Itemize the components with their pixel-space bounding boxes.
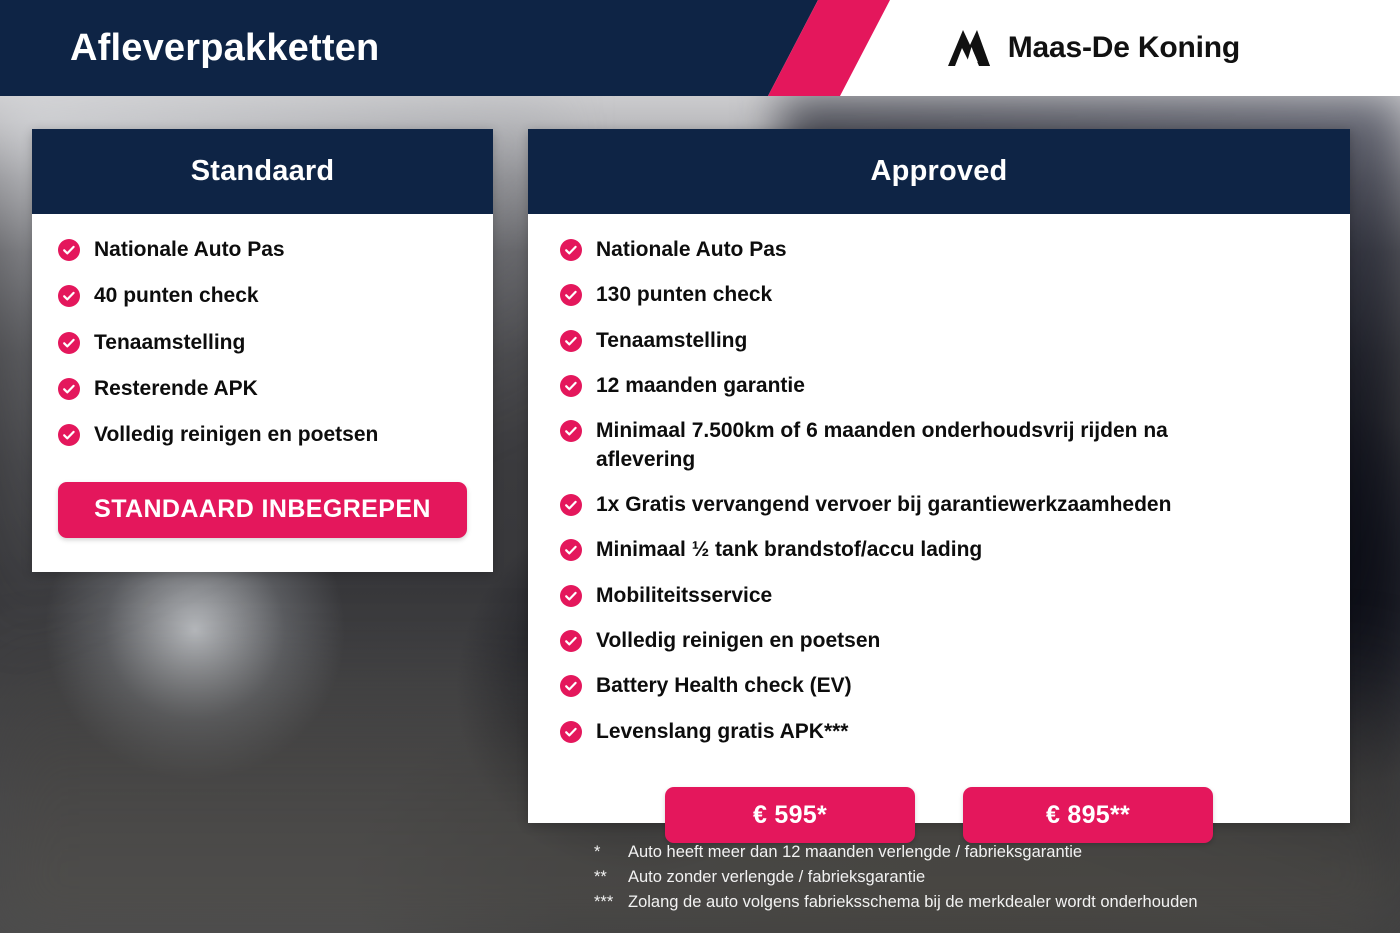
check-circle-icon <box>560 239 582 261</box>
check-circle-icon <box>560 420 582 442</box>
check-circle-icon <box>58 239 80 261</box>
footnote-item: ** Auto zonder verlengde / fabrieksgaran… <box>594 865 1354 890</box>
footnote-text: Auto zonder verlengde / fabrieksgarantie <box>628 865 925 890</box>
feature-label: 12 maanden garantie <box>596 372 805 400</box>
check-circle-icon <box>560 494 582 516</box>
feature-label: Nationale Auto Pas <box>596 236 787 264</box>
feature-label: Tenaamstelling <box>596 327 747 355</box>
list-item: Tenaamstelling <box>560 327 1324 355</box>
footnote-list: * Auto heeft meer dan 12 maanden verleng… <box>594 840 1354 915</box>
feature-list-standaard: Nationale Auto Pas 40 punten check Tenaa… <box>32 236 493 450</box>
feature-label: Mobiliteitsservice <box>596 582 772 610</box>
card-body-approved: Nationale Auto Pas 130 punten check Tena… <box>528 214 1350 843</box>
list-item: Battery Health check (EV) <box>560 672 1324 700</box>
feature-label: 130 punten check <box>596 281 772 309</box>
check-circle-icon <box>560 675 582 697</box>
footnote-marker: *** <box>594 890 628 915</box>
list-item: Nationale Auto Pas <box>560 236 1324 264</box>
card-header-approved: Approved <box>528 129 1350 214</box>
list-item: 12 maanden garantie <box>560 372 1324 400</box>
list-item: 1x Gratis vervangend vervoer bij garanti… <box>560 491 1324 519</box>
brand-logo: Maas-De Koning <box>946 0 1240 96</box>
footnote-item: *** Zolang de auto volgens fabrieksschem… <box>594 890 1354 915</box>
footnote-marker: * <box>594 840 628 865</box>
feature-label: Minimaal 7.500km of 6 maanden onderhouds… <box>596 417 1236 474</box>
check-circle-icon <box>560 539 582 561</box>
feature-label: Levenslang gratis APK*** <box>596 718 848 746</box>
package-card-approved: Approved Nationale Auto Pas 130 punten c… <box>528 129 1350 823</box>
page-header: Afleverpakketten Maas-De Koning <box>0 0 1400 96</box>
footnote-marker: ** <box>594 865 628 890</box>
check-circle-icon <box>560 284 582 306</box>
feature-label: Tenaamstelling <box>94 329 245 357</box>
list-item: 130 punten check <box>560 281 1324 309</box>
package-card-standaard: Standaard Nationale Auto Pas 40 punten c… <box>32 129 493 572</box>
list-item: Nationale Auto Pas <box>58 236 469 264</box>
feature-label: 40 punten check <box>94 282 259 310</box>
list-item: Mobiliteitsservice <box>560 582 1324 610</box>
list-item: Tenaamstelling <box>58 329 469 357</box>
check-circle-icon <box>560 630 582 652</box>
feature-label: Battery Health check (EV) <box>596 672 852 700</box>
check-circle-icon <box>58 378 80 400</box>
list-item: Minimaal 7.500km of 6 maanden onderhouds… <box>560 417 1324 474</box>
check-circle-icon <box>560 375 582 397</box>
feature-label: Resterende APK <box>94 375 258 403</box>
feature-label: Minimaal ½ tank brandstof/accu lading <box>596 536 982 564</box>
price-button-595[interactable]: € 595* <box>665 787 915 843</box>
list-item: 40 punten check <box>58 282 469 310</box>
delivery-packages-infographic: Afleverpakketten Maas-De Koning Standaar… <box>0 0 1400 933</box>
feature-label: Volledig reinigen en poetsen <box>596 627 880 655</box>
list-item: Volledig reinigen en poetsen <box>58 421 469 449</box>
list-item: Levenslang gratis APK*** <box>560 718 1324 746</box>
feature-label: Nationale Auto Pas <box>94 236 285 264</box>
feature-list-approved: Nationale Auto Pas 130 punten check Tena… <box>528 236 1350 746</box>
list-item: Resterende APK <box>58 375 469 403</box>
footnote-text: Auto heeft meer dan 12 maanden verlengde… <box>628 840 1082 865</box>
card-body-standaard: Nationale Auto Pas 40 punten check Tenaa… <box>32 214 493 538</box>
list-item: Minimaal ½ tank brandstof/accu lading <box>560 536 1324 564</box>
page-title: Afleverpakketten <box>70 0 379 96</box>
card-header-standaard: Standaard <box>32 129 493 214</box>
footnote-item: * Auto heeft meer dan 12 maanden verleng… <box>594 840 1354 865</box>
maas-de-koning-m-mark-icon <box>946 28 992 68</box>
check-circle-icon <box>560 330 582 352</box>
check-circle-icon <box>58 285 80 307</box>
feature-label: 1x Gratis vervangend vervoer bij garanti… <box>596 491 1171 519</box>
check-circle-icon <box>560 585 582 607</box>
check-circle-icon <box>58 424 80 446</box>
price-button-row: € 595* € 895** <box>528 763 1350 843</box>
list-item: Volledig reinigen en poetsen <box>560 627 1324 655</box>
price-button-895[interactable]: € 895** <box>963 787 1213 843</box>
standaard-included-button[interactable]: STANDAARD INBEGREPEN <box>58 482 467 538</box>
check-circle-icon <box>58 332 80 354</box>
feature-label: Volledig reinigen en poetsen <box>94 421 378 449</box>
card-title: Approved <box>871 155 1008 188</box>
standaard-button-row: STANDAARD INBEGREPEN <box>32 468 493 538</box>
footnote-text: Zolang de auto volgens fabrieksschema bi… <box>628 890 1198 915</box>
brand-name: Maas-De Koning <box>1008 31 1240 65</box>
check-circle-icon <box>560 721 582 743</box>
card-title: Standaard <box>191 155 335 188</box>
